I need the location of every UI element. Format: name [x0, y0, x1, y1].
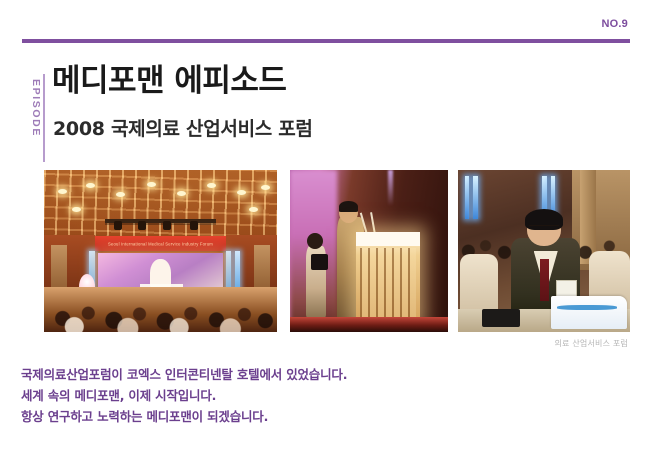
conference-hall-photo: Seoul International Medical Service Indu… [44, 170, 277, 332]
neon-strip-1 [465, 176, 469, 218]
stage-banner-text: Seoul International Medical Service Indu… [72, 241, 249, 246]
speaker-hair [339, 201, 358, 212]
attendee-tie [540, 259, 549, 301]
podium [356, 232, 419, 323]
body-copy-line-3: 항상 연구하고 노력하는 메디포맨이 되겠습니다. [21, 410, 621, 425]
page-title: 메디포맨 에피소드 [52, 66, 286, 97]
name-badge [556, 280, 577, 297]
neon-strip-2 [473, 176, 477, 218]
stage-light-beam [388, 170, 393, 206]
stage-banner: Seoul International Medical Service Indu… [72, 236, 249, 251]
seated-attendee-photo [458, 170, 630, 332]
issue-number-label: NO.9 [602, 18, 628, 30]
glasses-icon [529, 225, 560, 232]
podium-speaker-photo [290, 170, 448, 332]
photo-caption: 의료 산업서비스 포럼 [554, 338, 628, 349]
photo-strip: Seoul International Medical Service Indu… [44, 170, 630, 332]
body-copy: 국제의료산업포럼이 코엑스 인터콘티넨탈 호텔에서 있었습니다. 세계 속의 메… [21, 368, 621, 430]
ceiling-lights [44, 176, 277, 234]
hall-audience [44, 287, 277, 332]
camera-icon [311, 254, 328, 270]
body-copy-line-1: 국제의료산업포럼이 코엑스 인터콘티넨탈 호텔에서 있었습니다. [21, 368, 621, 383]
stage-floor [290, 317, 448, 332]
open-brochure [551, 296, 627, 328]
page-subtitle: 2008 국제의료 산업서비스 포럼 [53, 120, 313, 139]
header-divider-rule [22, 39, 630, 43]
mobile-phone-icon [482, 309, 520, 327]
episode-tag: EPISODE [22, 72, 44, 156]
episode-tag-label: EPISODE [30, 66, 42, 150]
title-block: EPISODE 메디포맨 에피소드 2008 국제의료 산업서비스 포럼 [22, 66, 622, 158]
episode-tag-divider [43, 74, 45, 162]
body-copy-line-2: 세계 속의 메디포맨, 이제 시작입니다. [21, 389, 621, 404]
stage-truss [105, 219, 217, 223]
